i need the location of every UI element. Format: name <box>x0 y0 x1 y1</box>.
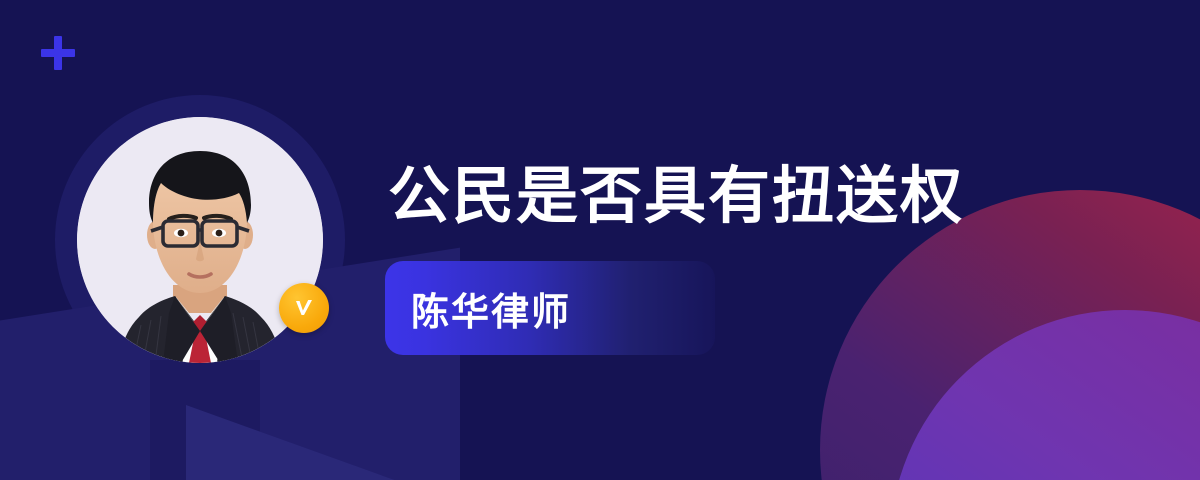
author-name-label: 陈华律师 <box>385 281 571 336</box>
author-name-badge[interactable]: 陈华律师 <box>385 261 715 355</box>
verified-badge-icon <box>279 283 329 333</box>
text-content: 公民是否具有扭送权 陈华律师 <box>388 0 1088 480</box>
article-cover-banner: 公民是否具有扭送权 陈华律师 <box>0 0 1200 480</box>
avatar[interactable] <box>77 117 323 363</box>
plus-icon <box>41 36 75 70</box>
page-title: 公民是否具有扭送权 <box>388 158 964 234</box>
